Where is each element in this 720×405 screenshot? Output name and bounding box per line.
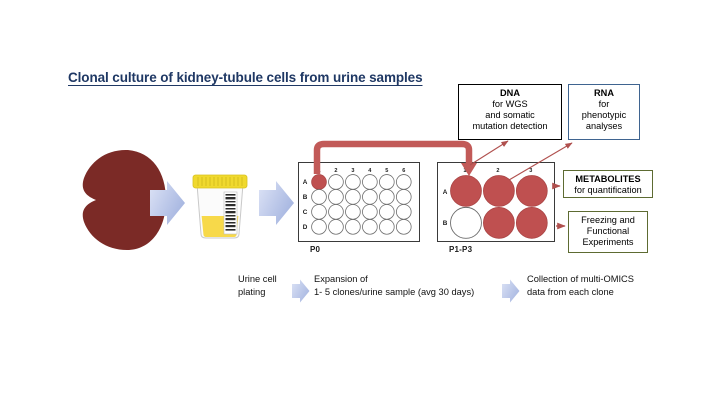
caption-step-2-line-2: 1- 5 clones/urine sample (avg 30 days) (314, 286, 504, 299)
output-box-rna: RNA for phenotypic analyses (568, 84, 640, 140)
freezing-line-2: Functional (573, 226, 643, 237)
svg-text:A: A (303, 179, 308, 186)
dna-line-1: for WGS (463, 99, 557, 110)
caption-step-1-line-2: plating (238, 286, 294, 299)
freezing-line-3: Experiments (573, 237, 643, 248)
svg-text:3: 3 (351, 168, 354, 174)
urine-cup-icon (189, 168, 251, 240)
freezing-line-1: Freezing and (573, 215, 643, 226)
caption-arrow-2 (502, 279, 520, 303)
caption-step-1: Urine cell plating (238, 273, 294, 298)
dna-line-2: and somatic (463, 110, 557, 121)
rna-line-2: phenotypic (573, 110, 635, 121)
rna-line-3: analyses (573, 121, 635, 132)
caption-step-2: Expansion of 1- 5 clones/urine sample (a… (314, 273, 504, 298)
metabolites-title: METABOLITES (568, 174, 648, 185)
page-title: Clonal culture of kidney-tubule cells fr… (68, 70, 422, 85)
svg-text:4: 4 (368, 168, 372, 174)
output-box-metabolites: METABOLITES for quantification (563, 170, 653, 198)
dna-title: DNA (463, 88, 557, 99)
caption-step-2-line-1: Expansion of (314, 273, 504, 286)
output-box-dna: DNA for WGS and somatic mutation detecti… (458, 84, 562, 140)
caption-step-1-line-1: Urine cell (238, 273, 294, 286)
figure-canvas: Clonal culture of kidney-tubule cells fr… (0, 0, 720, 405)
plate-p1-p3: 1 2 3 A B (437, 162, 555, 242)
svg-text:B: B (443, 220, 448, 227)
rna-title: RNA (573, 88, 635, 99)
svg-text:D: D (303, 224, 308, 231)
svg-text:A: A (443, 189, 448, 196)
rna-line-1: for (573, 99, 635, 110)
svg-text:1: 1 (463, 168, 466, 174)
svg-text:C: C (303, 209, 308, 216)
flow-arrow-2 (259, 180, 295, 226)
flow-arrow-1 (150, 180, 186, 226)
metabolites-line-1: for quantification (568, 185, 648, 196)
svg-text:2: 2 (496, 168, 499, 174)
svg-text:5: 5 (385, 168, 388, 174)
plate-p0-label: P0 (310, 245, 320, 254)
svg-text:3: 3 (529, 168, 532, 174)
caption-step-3: Collection of multi-OMICS data from each… (527, 273, 647, 298)
svg-text:B: B (303, 194, 308, 201)
output-box-freezing: Freezing and Functional Experiments (568, 211, 648, 253)
caption-arrow-1 (292, 279, 310, 303)
svg-text:6: 6 (402, 168, 405, 174)
dna-line-3: mutation detection (463, 121, 557, 132)
caption-step-3-line-1: Collection of multi-OMICS (527, 273, 647, 286)
plate-p0: 1 2 3 4 5 6 A B C D (298, 162, 420, 242)
plate-p1-p3-label: P1-P3 (449, 245, 472, 254)
caption-step-3-line-2: data from each clone (527, 286, 647, 299)
svg-text:1: 1 (317, 168, 320, 174)
svg-text:2: 2 (334, 168, 337, 174)
